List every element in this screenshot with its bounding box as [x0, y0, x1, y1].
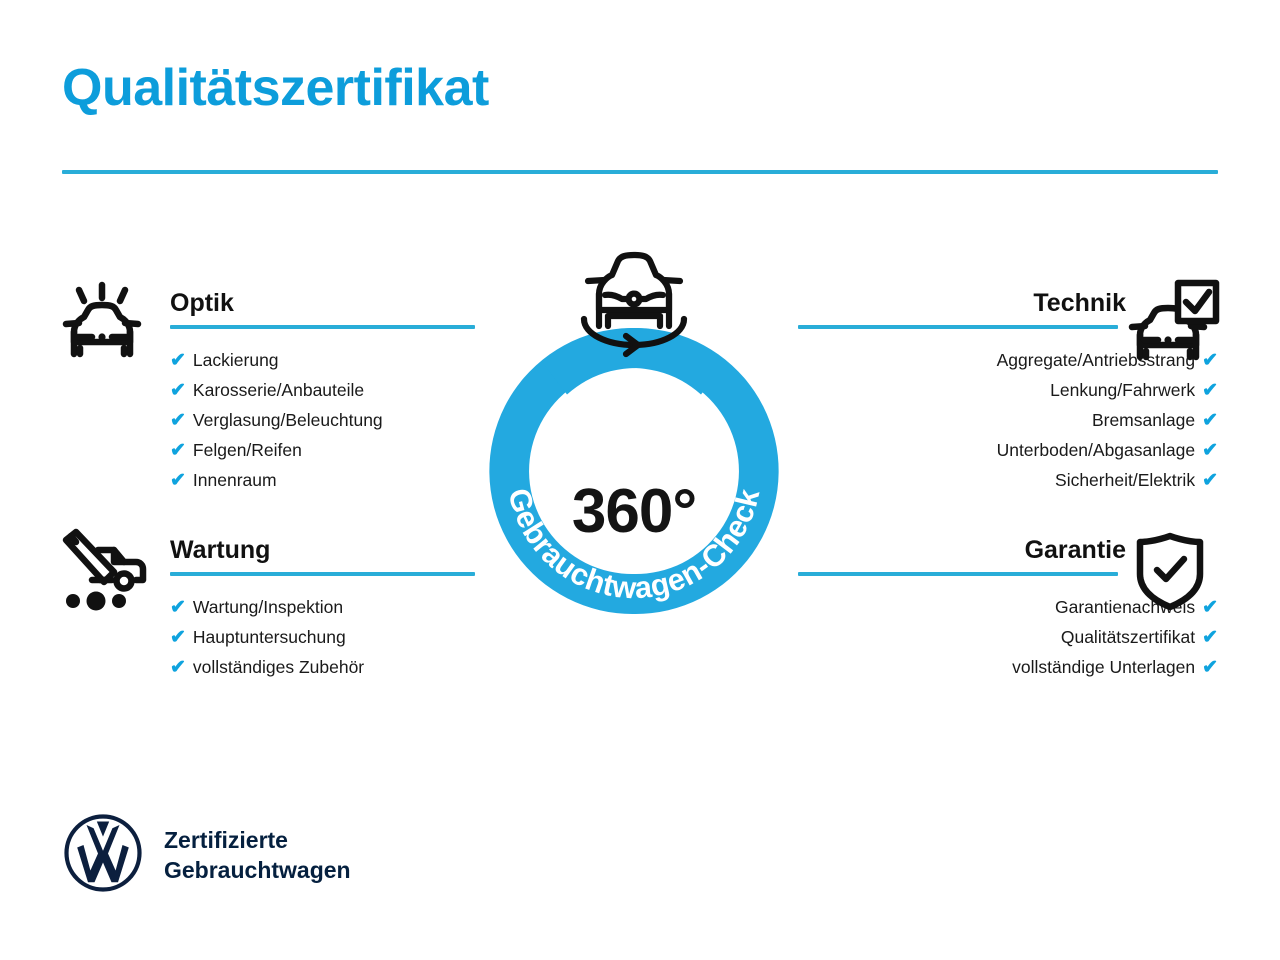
list-item-label: Qualitätszertifikat	[1061, 622, 1195, 652]
section-wartung: Wartung ✔Wartung/Inspektion ✔Hauptunters…	[55, 532, 475, 682]
list-item-label: Sicherheit/Elektrik	[1055, 465, 1195, 495]
list-item-label: Karosserie/Anbauteile	[193, 375, 364, 405]
list-item-label: vollständiges Zubehör	[193, 652, 364, 682]
vw-certified-label: Zertifizierte Gebrauchtwagen	[164, 826, 351, 885]
check-icon: ✔	[170, 381, 186, 400]
check-icon: ✔	[1202, 441, 1218, 460]
header-divider	[62, 170, 1218, 174]
list-item: ✔Karosserie/Anbauteile	[170, 375, 475, 405]
list-item: ✔Lackierung	[170, 345, 475, 375]
list-item: ✔Felgen/Reifen	[170, 435, 475, 465]
vw-label-line2: Gebrauchtwagen	[164, 857, 351, 883]
vw-roundel-icon	[62, 812, 144, 899]
list-item: ✔Verglasung/Beleuchtung	[170, 405, 475, 435]
list-item-label: Unterboden/Abgasanlage	[997, 435, 1196, 465]
vw-certified-logo-block: Zertifizierte Gebrauchtwagen	[62, 812, 351, 899]
list-item-label: Wartung/Inspektion	[193, 592, 343, 622]
list-item: Unterboden/Abgasanlage✔	[798, 435, 1218, 465]
section-garantie: Garantie Garantienachweis✔ Qualitätszert…	[798, 532, 1218, 682]
check-icon: ✔	[170, 411, 186, 430]
page-title: Qualitätszertifikat	[62, 60, 489, 117]
list-item-label: Felgen/Reifen	[193, 435, 302, 465]
list-item-label: Bremsanlage	[1092, 405, 1195, 435]
list-item: Qualitätszertifikat✔	[798, 622, 1218, 652]
check-icon: ✔	[1202, 658, 1218, 677]
section-divider-technik	[798, 325, 1118, 329]
badge-center-label: 360°	[460, 476, 808, 547]
car-pencil-icon	[52, 528, 152, 619]
list-item: ✔vollständiges Zubehör	[170, 652, 475, 682]
section-technik: Technik Aggregate/Antriebsstrang✔ Lenkun…	[798, 285, 1218, 495]
check-icon: ✔	[170, 598, 186, 617]
list-item: Bremsanlage✔	[798, 405, 1218, 435]
section-divider-optik	[170, 325, 475, 329]
vw-label-line1: Zertifizierte	[164, 827, 288, 853]
list-item: Lenkung/Fahrwerk✔	[798, 375, 1218, 405]
list-item: vollständige Unterlagen✔	[798, 652, 1218, 682]
check-icon: ✔	[1202, 411, 1218, 430]
list-item: ✔Innenraum	[170, 465, 475, 495]
list-item-label: vollständige Unterlagen	[1012, 652, 1195, 682]
list-item: ✔Hauptuntersuchung	[170, 622, 475, 652]
list-item-label: Lackierung	[193, 345, 279, 375]
list-item-label: Lenkung/Fahrwerk	[1050, 375, 1195, 405]
list-item: Sicherheit/Elektrik✔	[798, 465, 1218, 495]
section-divider-garantie	[798, 572, 1118, 576]
check-icon: ✔	[170, 441, 186, 460]
section-optik: Optik ✔Lackierung ✔Karosserie/Anbauteile…	[55, 285, 475, 495]
check-icon: ✔	[170, 628, 186, 647]
check-icon: ✔	[170, 658, 186, 677]
check-icon: ✔	[1202, 471, 1218, 490]
check-icon: ✔	[1202, 381, 1218, 400]
list-item: ✔Wartung/Inspektion	[170, 592, 475, 622]
car-checkbox-icon	[1126, 277, 1222, 372]
car-rotate-icon	[564, 248, 704, 365]
list-item-label: Hauptuntersuchung	[193, 622, 346, 652]
car-shine-icon	[54, 280, 150, 371]
shield-check-icon	[1128, 528, 1212, 619]
list-item-label: Innenraum	[193, 465, 277, 495]
list-item-label: Verglasung/Beleuchtung	[193, 405, 383, 435]
check-icon: ✔	[1202, 628, 1218, 647]
section-divider-wartung	[170, 572, 475, 576]
badge-360-check: Gebrauchtwagen-Check 360°	[460, 248, 808, 648]
check-icon: ✔	[170, 471, 186, 490]
check-icon: ✔	[170, 351, 186, 370]
